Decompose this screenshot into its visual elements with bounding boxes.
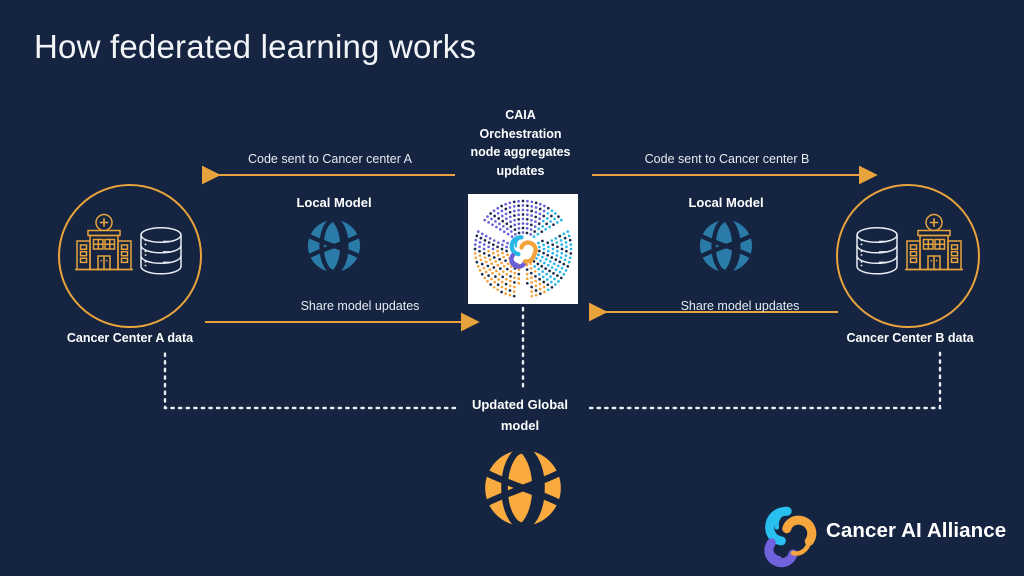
cancer-center-a-label: Cancer Center A data bbox=[0, 331, 260, 345]
hospital-icon bbox=[75, 215, 133, 270]
local-model-a-label: Local Model bbox=[274, 195, 394, 210]
brand-name: Cancer AI Alliance bbox=[826, 519, 1006, 543]
cancer-center-b-circle bbox=[836, 184, 980, 328]
arrow-label-code-to-center-b: Code sent to Cancer center B bbox=[597, 152, 857, 166]
cancer-center-a-circle bbox=[58, 184, 202, 328]
arrow-label-updates-from-center-b: Share model updates bbox=[610, 299, 870, 313]
slide-canvas: How federated learning works Code sent t… bbox=[0, 0, 1024, 576]
dotted-global-to-center-a bbox=[165, 352, 455, 408]
local-model-a: Local Model bbox=[274, 195, 394, 277]
global-caption-line-1: Updated Global bbox=[447, 394, 593, 415]
database-icon bbox=[857, 228, 897, 274]
arrow-label-code-to-center-a: Code sent to Cancer center A bbox=[200, 152, 460, 166]
caia-three-swirl-logo bbox=[762, 504, 816, 558]
caia-caption-line-2: Orchestration bbox=[448, 125, 593, 144]
caia-node-caption: CAIA Orchestration node aggregates updat… bbox=[448, 106, 593, 180]
global-model-caption: Updated Global model bbox=[447, 394, 593, 436]
database-icon bbox=[141, 228, 181, 274]
globe-icon bbox=[695, 215, 757, 277]
brand-lockup: Cancer AI Alliance bbox=[762, 504, 1006, 558]
caia-caption-line-3: node aggregates bbox=[448, 143, 593, 162]
caia-orchestration-node bbox=[468, 194, 578, 304]
global-model-globe-icon bbox=[479, 444, 567, 532]
cancer-center-b-label: Cancer Center B data bbox=[780, 331, 1024, 345]
local-model-b-label: Local Model bbox=[666, 195, 786, 210]
caia-dotted-circle-logo bbox=[468, 194, 578, 304]
hospital-icon bbox=[905, 215, 963, 270]
arrow-label-updates-from-center-a: Share model updates bbox=[230, 299, 490, 313]
local-model-b: Local Model bbox=[666, 195, 786, 277]
caia-caption-line-1: CAIA bbox=[448, 106, 593, 125]
globe-icon bbox=[303, 215, 365, 277]
global-caption-line-2: model bbox=[447, 415, 593, 436]
dotted-global-to-center-b bbox=[590, 352, 940, 408]
caia-three-swirl-logo bbox=[511, 237, 535, 266]
caia-caption-line-4: updates bbox=[448, 162, 593, 181]
